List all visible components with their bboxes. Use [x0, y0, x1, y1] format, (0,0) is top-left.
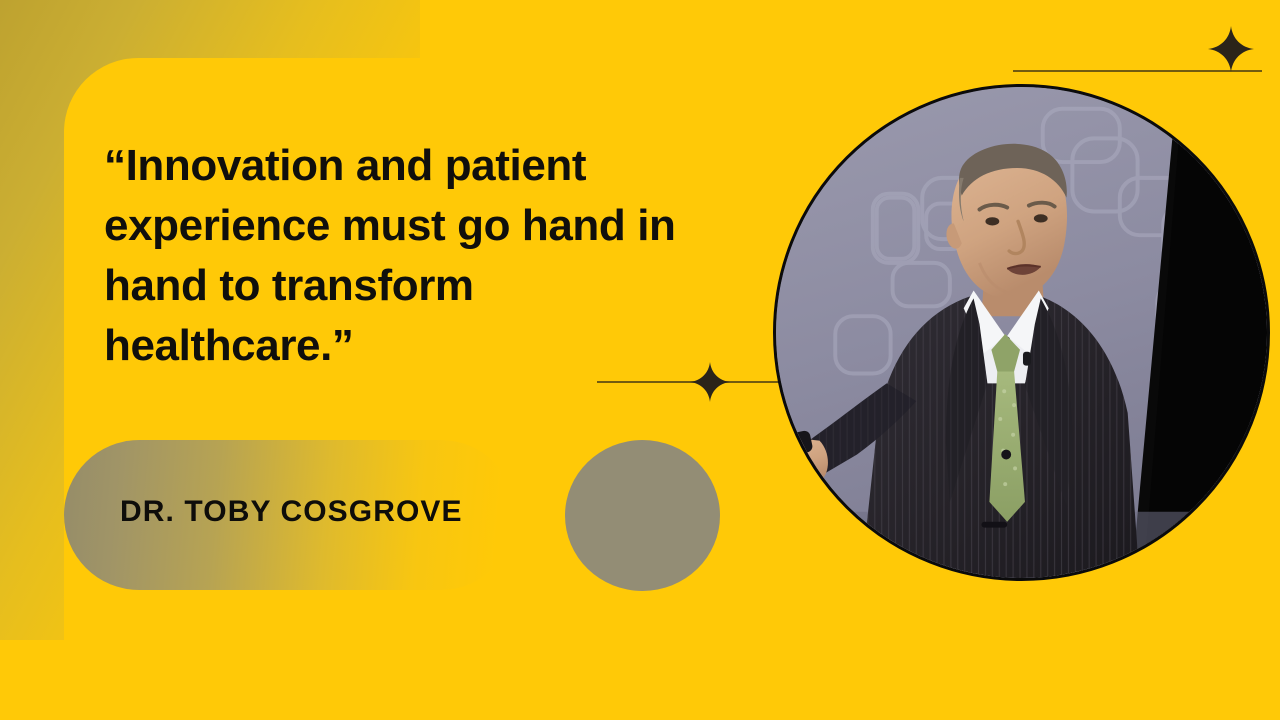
sparkle-icon-mid-left: [690, 362, 730, 402]
sparkle-icon-top-right: [1208, 26, 1254, 72]
quote-text: “Innovation and patient experience must …: [104, 136, 704, 376]
speaker-portrait: [773, 84, 1270, 581]
attribution-name: DR. TOBY COSGROVE: [120, 495, 580, 529]
quote-card: “Innovation and patient experience must …: [0, 0, 1280, 720]
gray-circle-decoration: [565, 440, 720, 591]
